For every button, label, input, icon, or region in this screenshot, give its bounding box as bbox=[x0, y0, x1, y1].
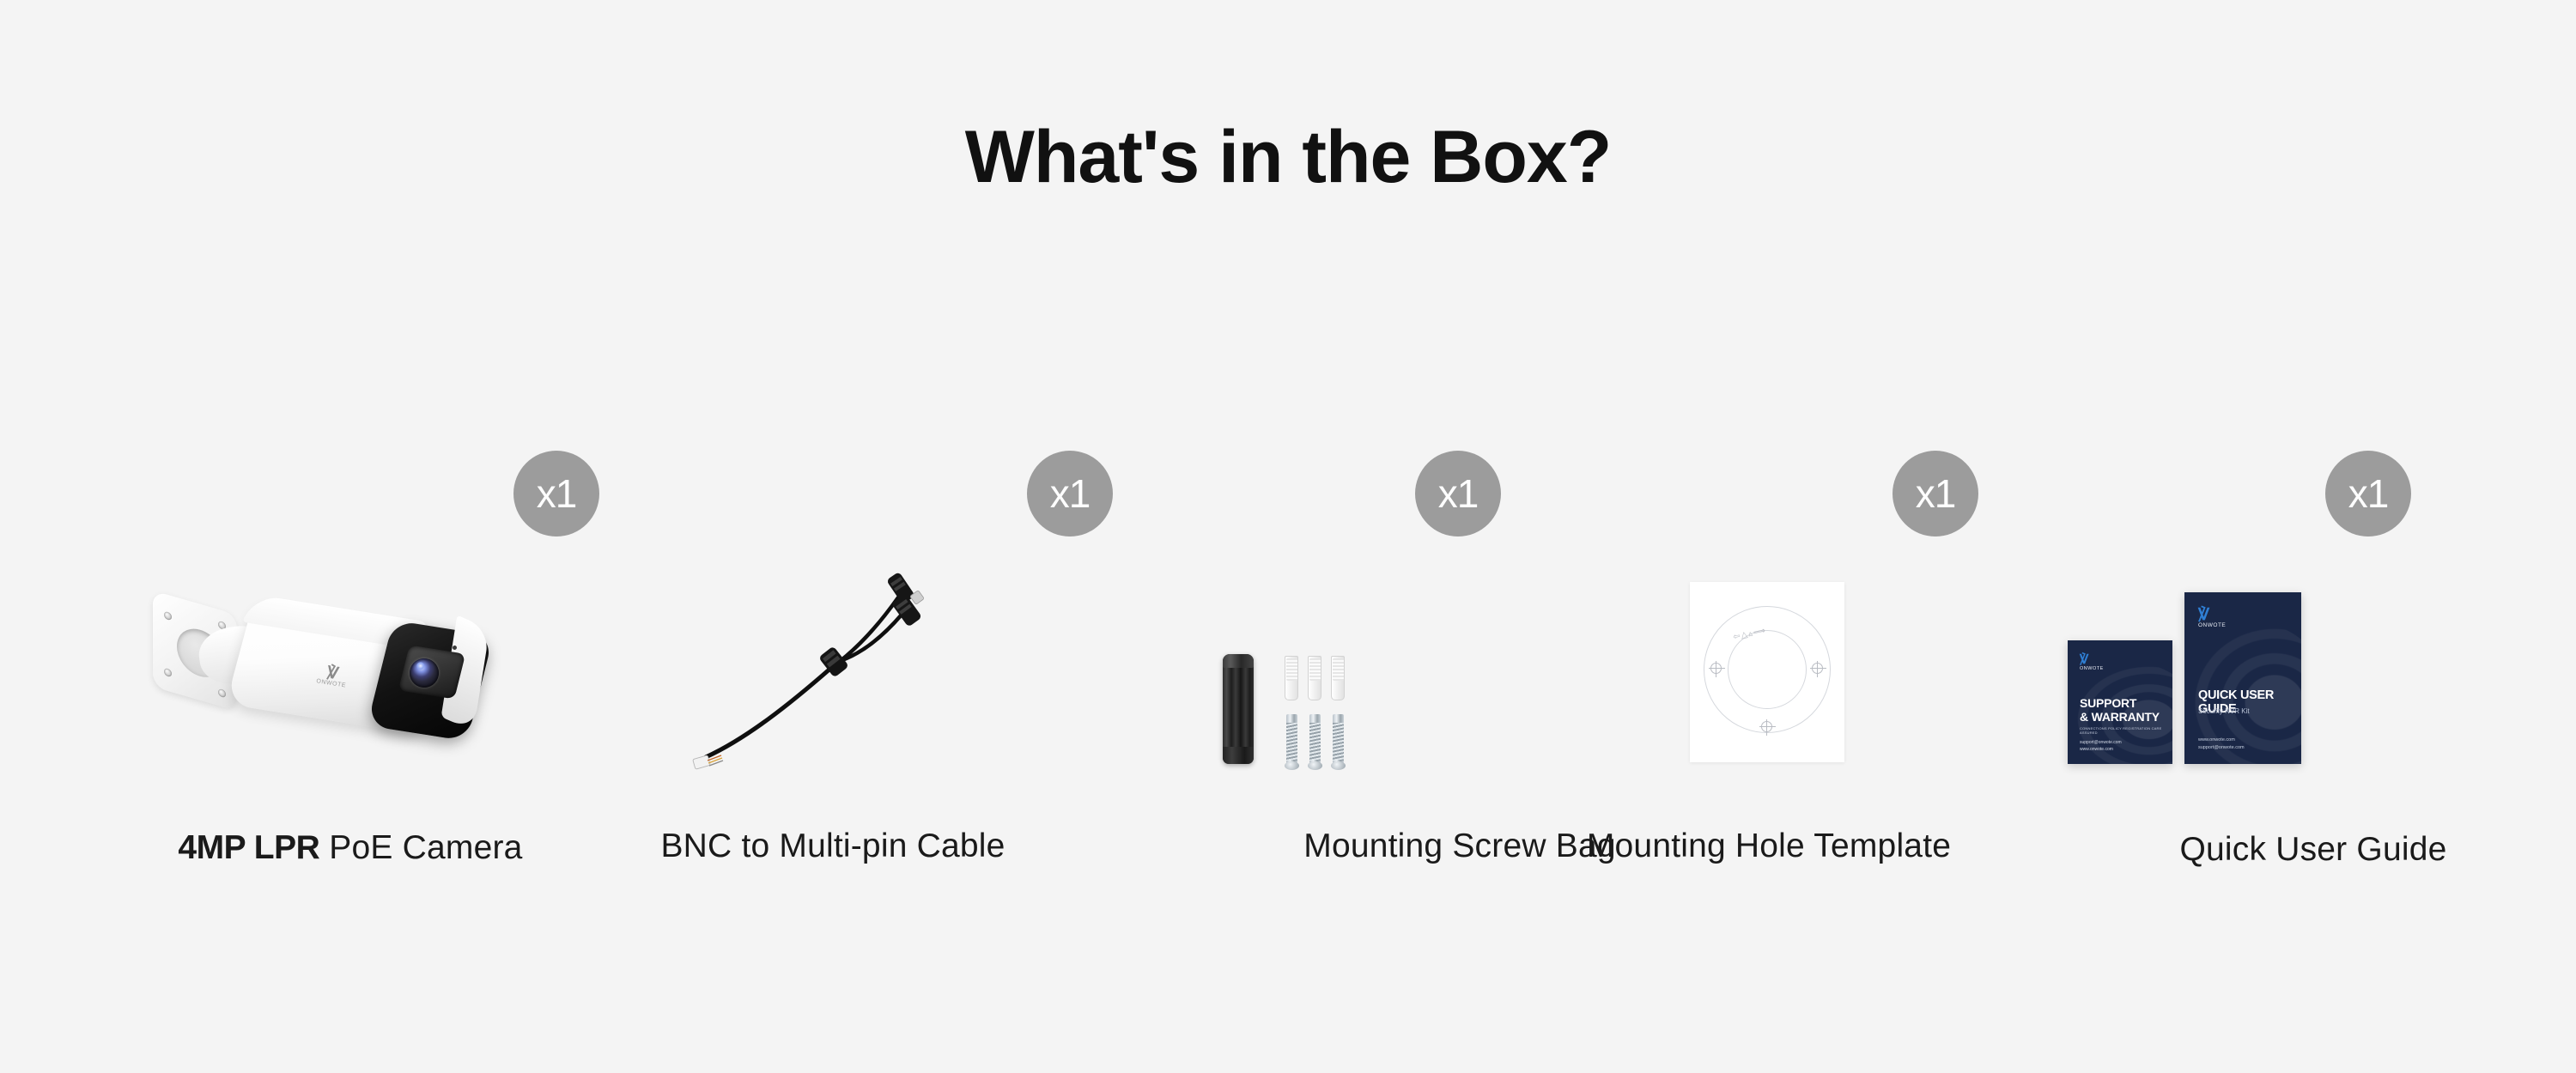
booklet-support-warranty: ℣ ONWOTE SUPPORT & WARRANTY CONNECTIONS … bbox=[2068, 640, 2172, 764]
items-row: x1 ℣ ONWOTE bbox=[0, 0, 2576, 1073]
onwote-logo-mark: ℣ bbox=[2080, 654, 2104, 666]
onwote-wordmark: ONWOTE bbox=[2198, 622, 2226, 628]
template-paper: ⇦△▵⟹ bbox=[1690, 582, 1844, 762]
screw-icon bbox=[1309, 714, 1321, 767]
booklet-support-footer: support@onwote.com www.onwote.com bbox=[2080, 740, 2122, 753]
item-caption-bnc-cable: BNC to Multi-pin Cable bbox=[601, 829, 1065, 863]
screw-icon bbox=[1333, 714, 1344, 767]
booklet-guide-email: support@onwote.com bbox=[2198, 744, 2245, 752]
wall-anchor-icon bbox=[1308, 656, 1321, 700]
booklet-support-email: support@onwote.com bbox=[2080, 740, 2122, 747]
booklet-support-title-line2: & WARRANTY bbox=[2080, 711, 2160, 724]
bnc-cable-illustration bbox=[687, 567, 945, 790]
quantity-badge-screw-bag: x1 bbox=[1415, 451, 1501, 536]
onwote-logo-guide-booklet: ℣ ONWOTE bbox=[2198, 608, 2226, 628]
onwote-logo-mark: ℣ bbox=[2198, 608, 2226, 622]
caption-regular-user-guide: Quick User Guide bbox=[2180, 831, 2447, 868]
caption-regular-hole-template: Mounting Hole Template bbox=[1587, 827, 1951, 864]
product-image-screw-bag bbox=[1219, 644, 1357, 773]
item-caption-poe-camera: 4MP LPR PoE Camera bbox=[0, 831, 701, 864]
booklet-support-website: www.onwote.com bbox=[2080, 747, 2122, 754]
quantity-badge-bnc-cable: x1 bbox=[1027, 451, 1113, 536]
booklet-guide-footer: www.onwote.com support@onwote.com bbox=[2198, 737, 2245, 752]
mount-screw-icon bbox=[164, 668, 172, 678]
product-image-user-guide: ℣ ONWOTE SUPPORT & WARRANTY CONNECTIONS … bbox=[2068, 592, 2308, 764]
wall-anchor-icon bbox=[1285, 656, 1298, 700]
template-hole-crosshair-icon bbox=[1761, 721, 1772, 732]
caption-regular-bnc-cable: BNC to Multi-pin Cable bbox=[660, 827, 1005, 864]
template-hole-crosshair-icon bbox=[1812, 663, 1823, 674]
screw-icon bbox=[1286, 714, 1297, 767]
mount-screw-icon bbox=[218, 688, 226, 699]
caption-bold-poe-camera: 4MP LPR bbox=[178, 829, 319, 866]
mount-screw-icon bbox=[164, 611, 172, 621]
product-image-hole-template: ⇦△▵⟹ bbox=[1690, 582, 1844, 762]
waterproof-cap bbox=[1223, 654, 1254, 764]
template-hole-crosshair-icon bbox=[1710, 663, 1722, 674]
item-caption-hole-template: Mounting Hole Template bbox=[1537, 829, 2001, 863]
booklet-support-subtitle: CONNECTIONS POLICY REGISTRATION CARE ASS… bbox=[2080, 726, 2162, 735]
booklet-quick-user-guide: ℣ ONWOTE QUICK USER GUIDE Security NVR K… bbox=[2184, 592, 2301, 764]
booklet-support-title-line1: SUPPORT bbox=[2080, 697, 2160, 711]
booklet-guide-website: www.onwote.com bbox=[2198, 737, 2245, 744]
product-image-poe-camera: ℣ ONWOTE bbox=[146, 584, 507, 790]
wall-anchor-icon bbox=[1331, 656, 1345, 700]
quantity-badge-user-guide: x1 bbox=[2325, 451, 2411, 536]
product-image-bnc-cable bbox=[687, 567, 945, 790]
whats-in-the-box-section: What's in the Box? x1 ℣ bbox=[0, 0, 2576, 1073]
booklet-guide-subtitle: Security NVR Kit bbox=[2198, 707, 2250, 715]
onwote-wordmark: ONWOTE bbox=[2080, 666, 2104, 671]
onwote-logo-support-booklet: ℣ ONWOTE bbox=[2080, 654, 2104, 671]
booklet-support-title: SUPPORT & WARRANTY bbox=[2080, 697, 2160, 724]
item-caption-user-guide: Quick User Guide bbox=[2050, 833, 2576, 866]
quantity-badge-hole-template: x1 bbox=[1893, 451, 1978, 536]
quantity-badge-poe-camera: x1 bbox=[513, 451, 599, 536]
caption-regular-poe-camera: PoE Camera bbox=[329, 829, 522, 866]
